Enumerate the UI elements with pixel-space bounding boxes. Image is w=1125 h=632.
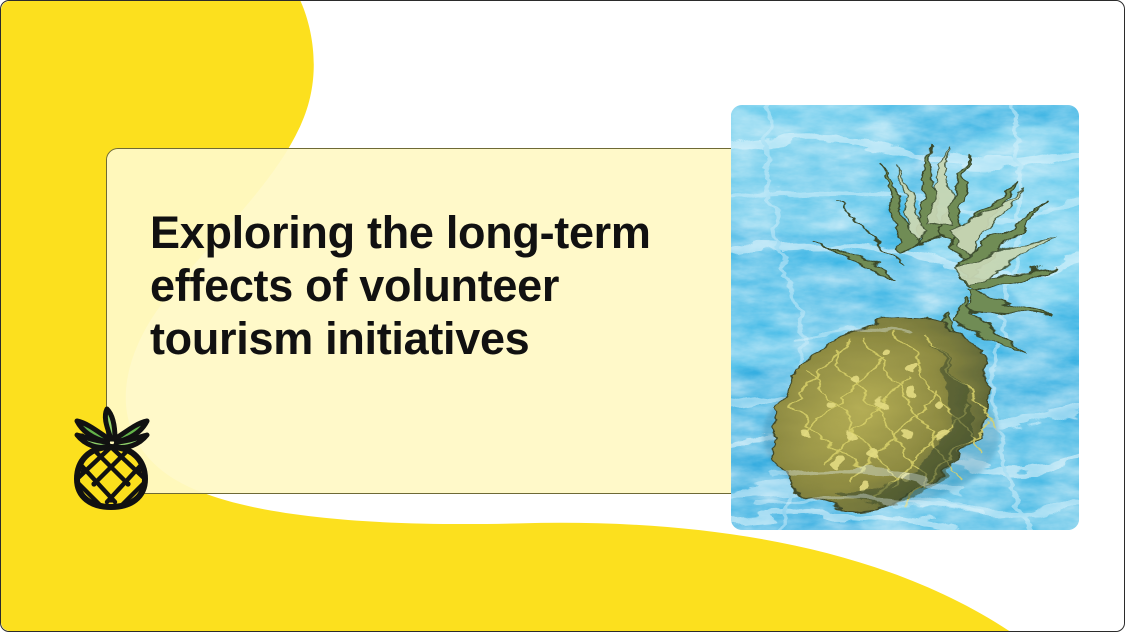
pineapple-icon-glyph [63,405,159,511]
pineapple-photo-image [731,105,1079,530]
pineapple-icon [63,405,159,511]
presentation-slide: Exploring the long-term effects of volun… [0,0,1125,632]
pineapple-photo [731,105,1079,530]
page-title: Exploring the long-term effects of volun… [150,206,710,365]
